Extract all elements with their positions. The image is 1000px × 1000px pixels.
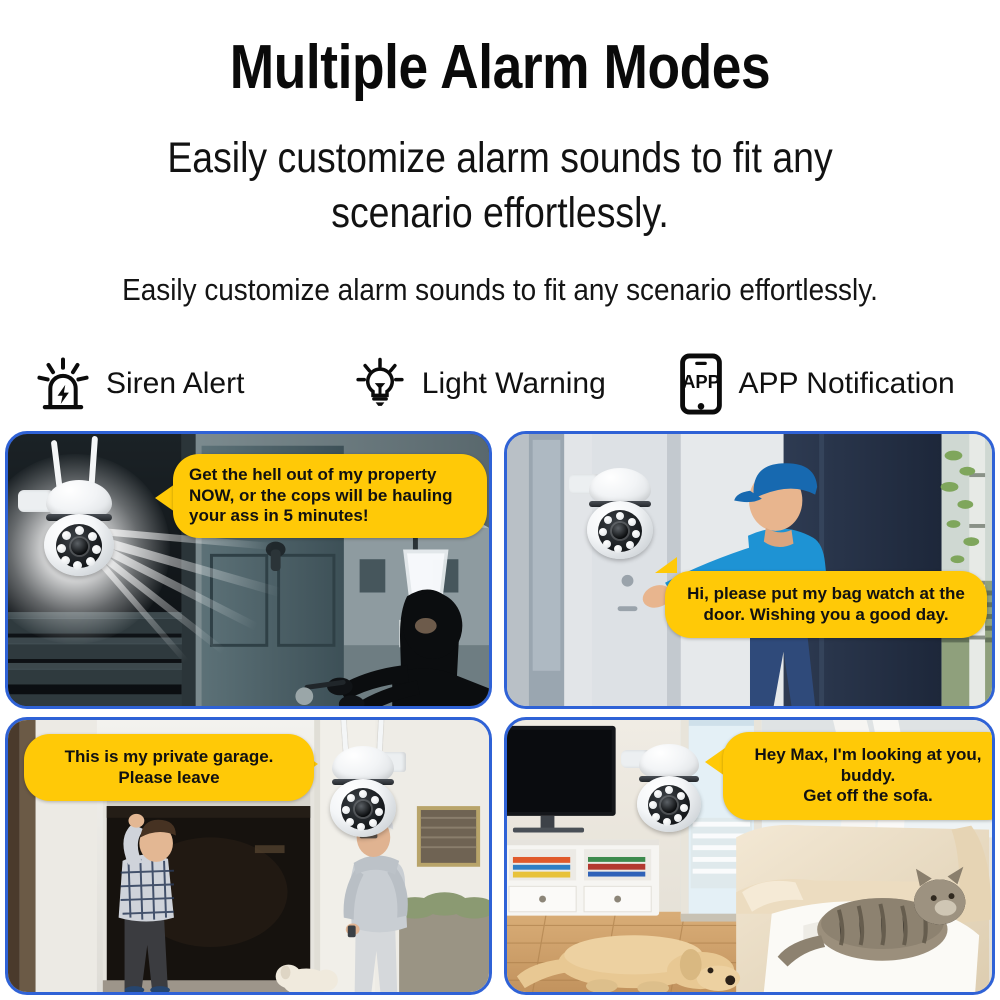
camera-lens: [355, 801, 371, 817]
security-camera: [24, 452, 120, 564]
bubble-line: NOW, or the cops will be hauling: [189, 486, 471, 507]
bubble-line: This is my private garage.: [40, 747, 298, 768]
camera-ir-led: [342, 806, 350, 814]
bubble-line: Get off the sofa.: [737, 786, 995, 807]
camera-ir-led: [649, 801, 657, 809]
camera-ir-led: [347, 794, 355, 802]
page-subtitle-line-1: Easily customize alarm sounds to fit any: [65, 131, 935, 186]
camera-ir-led: [62, 531, 71, 540]
speech-bubble-burglar: Get the hell out of my property NOW, or …: [173, 454, 487, 538]
camera-ir-led: [632, 530, 640, 538]
camera-ir-led: [375, 808, 383, 816]
camera-ir-led: [359, 790, 367, 798]
speech-bubble-tail: [705, 748, 725, 776]
camera-ir-led: [86, 557, 95, 566]
security-camera: [579, 468, 667, 572]
scene-panel-grid: Get the hell out of my property NOW, or …: [5, 431, 995, 995]
speech-bubble-tail: [155, 484, 175, 512]
camera-ir-led: [73, 561, 82, 570]
feature-list: Siren Alert Light Warning: [0, 345, 1000, 423]
feature-light-warning: Light Warning: [346, 345, 669, 423]
feature-label-light-warning: Light Warning: [422, 367, 606, 401]
camera-ir-led: [677, 792, 685, 800]
camera-ir-led: [665, 786, 673, 794]
security-camera: [324, 726, 414, 832]
siren-icon: [34, 355, 92, 413]
panel-burglar-night-scene: Get the hell out of my property NOW, or …: [5, 431, 492, 709]
camera-lens: [612, 523, 628, 539]
camera-ir-led: [357, 823, 365, 831]
bubble-line: Hey Max, I'm looking at you, buddy.: [737, 745, 995, 786]
panel-living-room-pets-scene: Hey Max, I'm looking at you, buddy. Get …: [504, 717, 995, 995]
bubble-line: Hi, please put my bag watch at the: [681, 584, 971, 605]
camera-ir-led: [61, 556, 70, 565]
product-feature-page: Multiple Alarm Modes Easily customize al…: [0, 0, 1000, 1000]
speech-bubble-delivery: Hi, please put my bag watch at the door.…: [665, 571, 987, 638]
camera-ir-led: [680, 804, 688, 812]
camera-ir-led: [674, 814, 682, 822]
camera-ir-led: [652, 813, 660, 821]
camera-ir-led: [628, 518, 636, 526]
camera-ir-led: [371, 796, 379, 804]
camera-lens: [661, 797, 677, 813]
camera-ir-led: [57, 544, 66, 553]
bubble-line: Get the hell out of my property: [189, 465, 471, 486]
camera-lens: [71, 538, 88, 555]
camera-ir-led: [654, 790, 662, 798]
svg-text:APP: APP: [683, 371, 721, 392]
page-title: Multiple Alarm Modes: [70, 36, 930, 99]
feature-siren-alert: Siren Alert: [0, 345, 346, 423]
panel-delivery-man-scene: Hi, please put my bag watch at the door.…: [504, 431, 995, 709]
camera-ir-led: [75, 526, 84, 535]
camera-ir-led: [599, 528, 607, 536]
speech-bubble-tail: [655, 557, 677, 573]
camera-ir-led: [626, 541, 634, 549]
page-subtitle: Easily customize alarm sounds to fit any…: [65, 131, 935, 241]
bubble-line: Please leave: [40, 768, 298, 789]
speech-bubble-living-room: Hey Max, I'm looking at you, buddy. Get …: [723, 732, 995, 820]
camera-ir-led: [88, 532, 97, 541]
camera-ir-led: [663, 818, 671, 826]
feature-app-notification: APP APP Notification: [668, 345, 1000, 423]
camera-ir-led: [603, 540, 611, 548]
camera-ir-led: [616, 512, 624, 520]
camera-ir-led: [604, 516, 612, 524]
panel-garage-intruder-scene: This is my private garage. Please leave: [5, 717, 492, 995]
camera-ir-led: [92, 545, 101, 554]
light-bulb-icon: [352, 356, 408, 412]
camera-top-cap: [639, 744, 699, 780]
bubble-line: your ass in 5 minutes!: [189, 506, 471, 527]
feature-label-siren-alert: Siren Alert: [106, 367, 244, 401]
camera-ir-led: [346, 818, 354, 826]
page-subtitle-line-2: scenario effortlessly.: [65, 186, 935, 241]
camera-ir-led: [369, 819, 377, 827]
camera-ir-led: [614, 545, 622, 553]
feature-label-app-notification: APP Notification: [738, 367, 954, 401]
bubble-line: door. Wishing you a good day.: [681, 605, 971, 626]
page-tagline: Easily customize alarm sounds to fit any…: [50, 271, 950, 308]
speech-bubble-garage: This is my private garage. Please leave: [24, 734, 314, 801]
phone-app-icon: APP: [678, 353, 724, 415]
